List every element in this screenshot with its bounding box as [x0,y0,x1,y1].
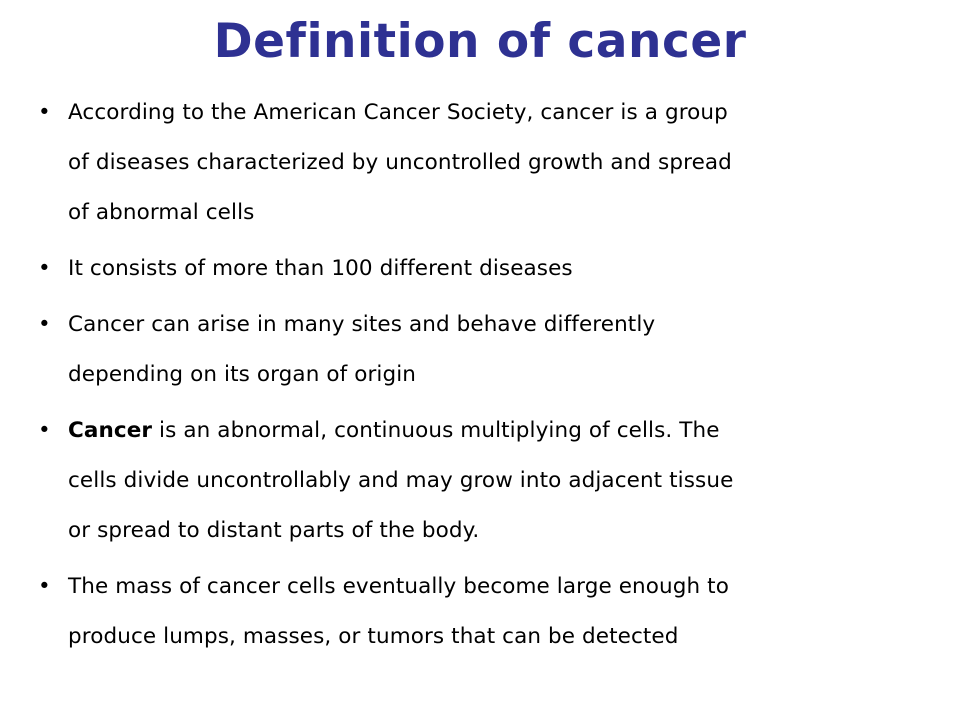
bullet-line: produce lumps, masses, or tumors that ca… [68,612,934,662]
bullet-lead-emphasis: Cancer [68,418,152,443]
bullet-line: depending on its organ of origin [68,350,934,400]
bullet-text: According to the American Cancer Society… [68,88,934,238]
bullet-text: The mass of cancer cells eventually beco… [68,562,934,662]
bullet-point-icon: • [38,406,52,456]
bullet-text: Cancer is an abnormal, continuous multip… [68,406,934,556]
bullet-list: •According to the American Cancer Societ… [34,88,934,662]
bullet-line: of diseases characterized by uncontrolle… [68,138,934,188]
bullet-line: It consists of more than 100 different d… [68,244,934,294]
bullet-item: •It consists of more than 100 different … [34,244,934,294]
bullet-item: •According to the American Cancer Societ… [34,88,934,238]
bullet-point-icon: • [38,300,52,350]
bullet-line: The mass of cancer cells eventually beco… [68,562,934,612]
bullet-point-icon: • [38,88,52,138]
bullet-point-icon: • [38,244,52,294]
bullet-line: Cancer can arise in many sites and behav… [68,300,934,350]
bullet-point-icon: • [38,562,52,612]
bullet-item: •The mass of cancer cells eventually bec… [34,562,934,662]
page-title: Definition of cancer [0,14,960,70]
slide-canvas: Definition of cancer •According to the A… [0,0,960,720]
bullet-item: •Cancer can arise in many sites and beha… [34,300,934,400]
bullet-line: According to the American Cancer Society… [68,88,934,138]
bullet-line: or spread to distant parts of the body. [68,506,934,556]
bullet-text: It consists of more than 100 different d… [68,244,934,294]
bullet-item: •Cancer is an abnormal, continuous multi… [34,406,934,556]
bullet-line-rest: is an abnormal, continuous multiplying o… [152,418,719,443]
bullet-line: cells divide uncontrollably and may grow… [68,456,934,506]
bullet-line: of abnormal cells [68,188,934,238]
bullet-line: Cancer is an abnormal, continuous multip… [68,406,934,456]
bullet-text: Cancer can arise in many sites and behav… [68,300,934,400]
